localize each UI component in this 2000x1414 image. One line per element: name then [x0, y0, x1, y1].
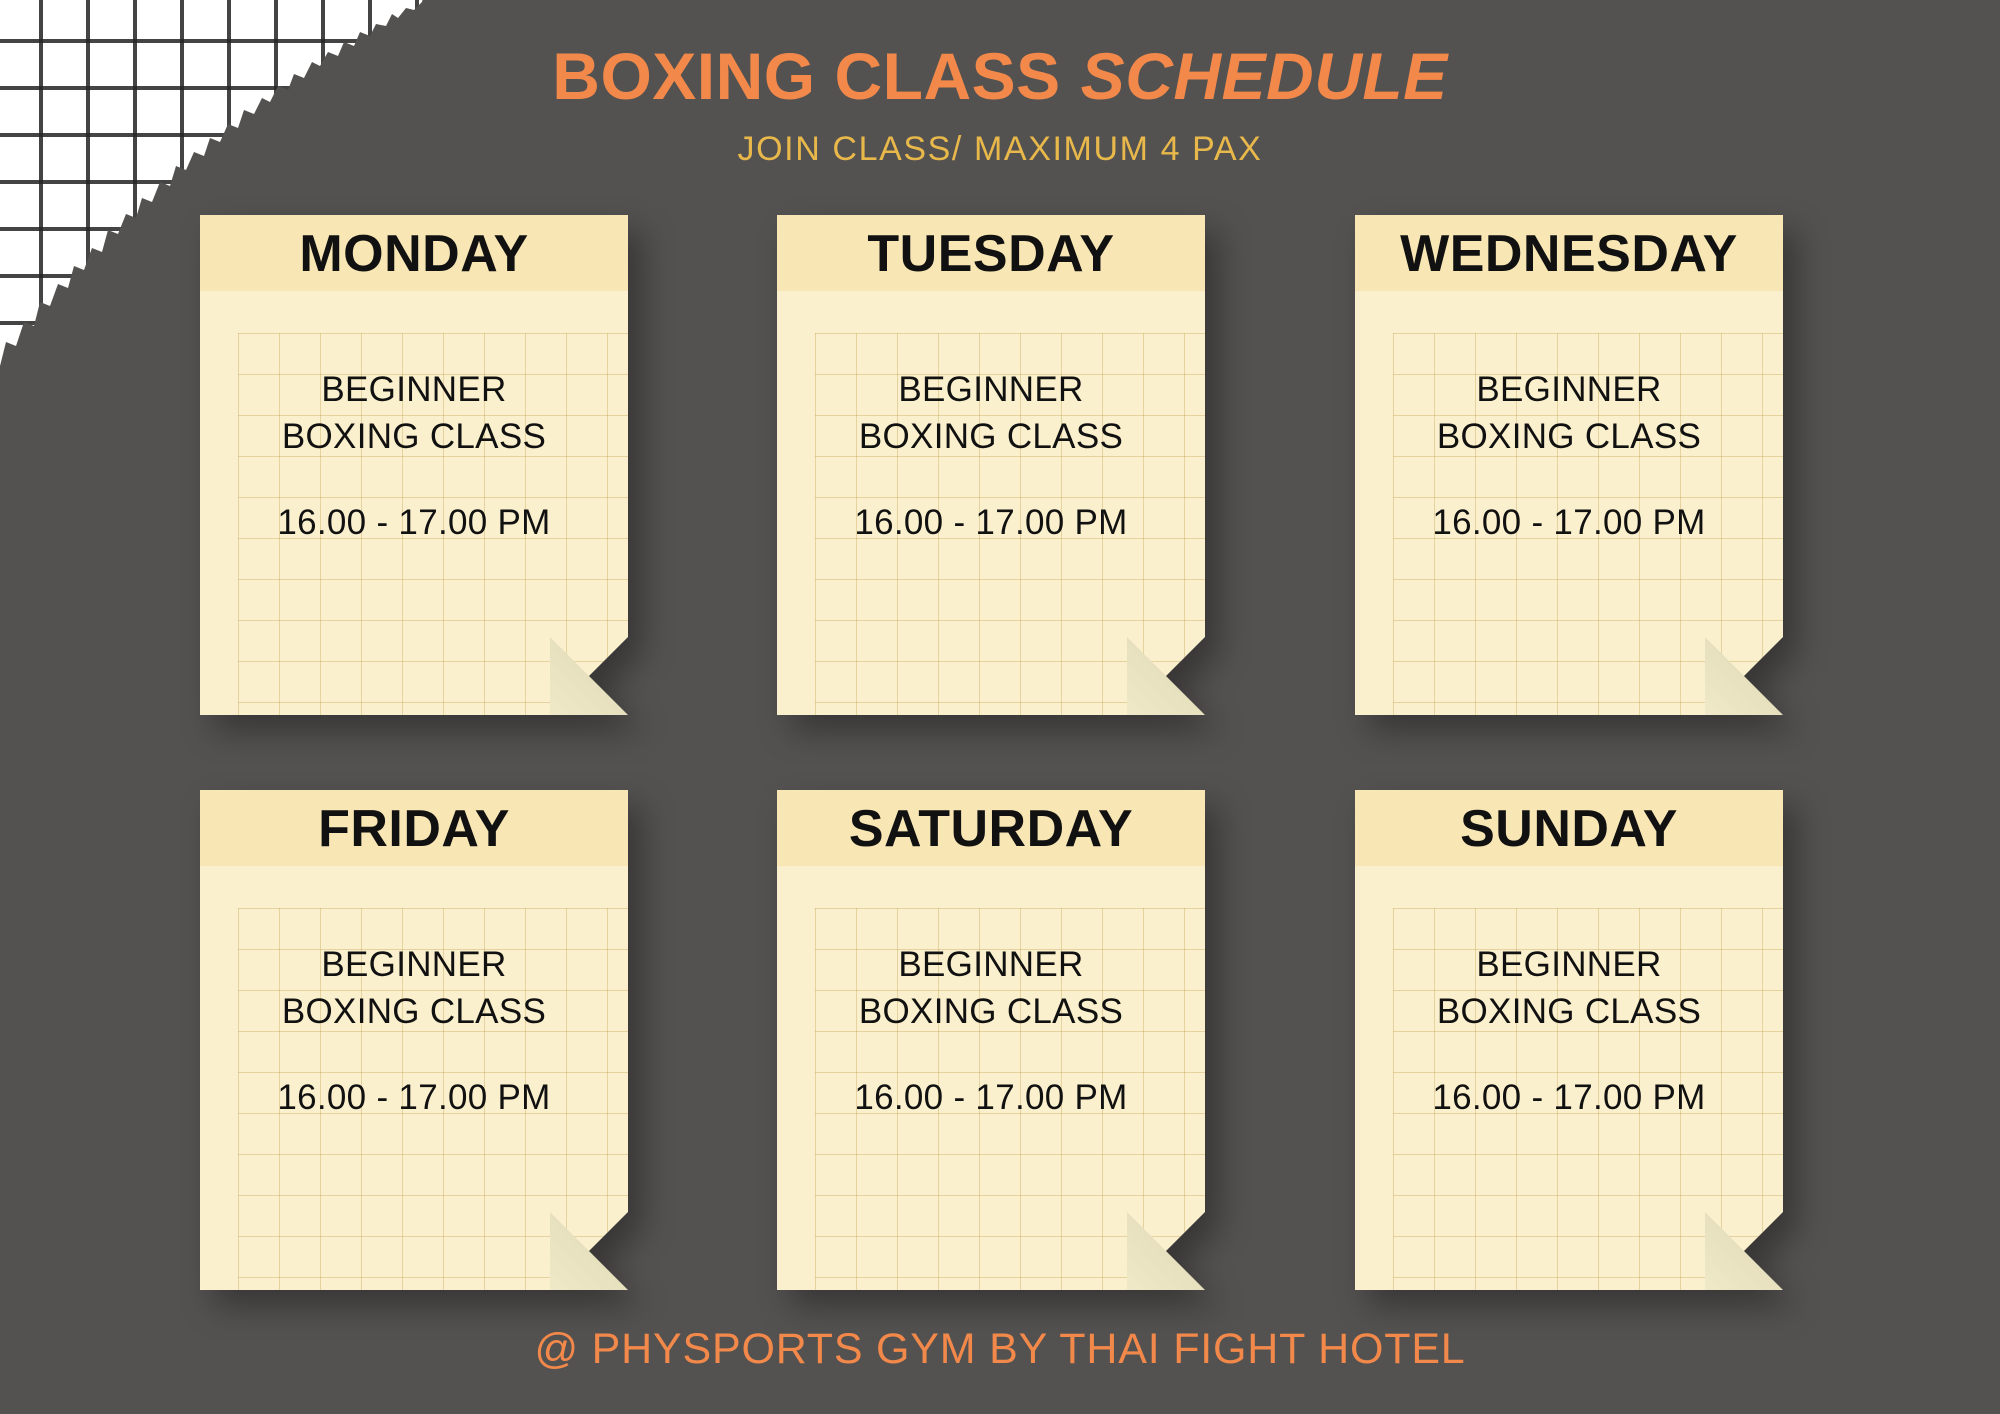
note-content: FRIDAY BEGINNER BOXING CLASS 16.00 - 17.… [200, 790, 628, 1290]
note-time-label: 16.00 - 17.00 PM [277, 1078, 550, 1118]
note-time-label: 16.00 - 17.00 PM [854, 1078, 1127, 1118]
note-day-label: SATURDAY [849, 800, 1133, 860]
title-schedule: SCHEDULE [1081, 39, 1448, 113]
note-day-label: WEDNESDAY [1400, 225, 1738, 285]
schedule-note-wednesday[interactable]: WEDNESDAY BEGINNER BOXING CLASS 16.00 - … [1355, 215, 1783, 715]
schedule-notes-area: MONDAY BEGINNER BOXING CLASS 16.00 - 17.… [0, 215, 2000, 1285]
poster-footer-venue: @ PHYSPORTS GYM BY THAI FIGHT HOTEL [0, 1325, 2000, 1374]
note-time-label: 16.00 - 17.00 PM [1432, 1078, 1705, 1118]
boxing-class-schedule-poster: BOXING CLASSSCHEDULE JOIN CLASS/ MAXIMUM… [0, 0, 2000, 1414]
poster-header: BOXING CLASSSCHEDULE JOIN CLASS/ MAXIMUM… [0, 40, 2000, 169]
note-class-label: BEGINNER BOXING CLASS [249, 367, 579, 461]
note-content: SATURDAY BEGINNER BOXING CLASS 16.00 - 1… [777, 790, 1205, 1290]
schedule-row-1: MONDAY BEGINNER BOXING CLASS 16.00 - 17.… [0, 215, 2000, 720]
note-day-label: MONDAY [299, 225, 528, 285]
note-day-label: SUNDAY [1460, 800, 1678, 860]
note-class-label: BEGINNER BOXING CLASS [1404, 942, 1734, 1036]
note-class-label: BEGINNER BOXING CLASS [1404, 367, 1734, 461]
poster-subtitle: JOIN CLASS/ MAXIMUM 4 PAX [0, 130, 2000, 169]
note-time-label: 16.00 - 17.00 PM [277, 503, 550, 543]
note-time-label: 16.00 - 17.00 PM [854, 503, 1127, 543]
schedule-row-2: FRIDAY BEGINNER BOXING CLASS 16.00 - 17.… [0, 790, 2000, 1295]
note-day-label: TUESDAY [867, 225, 1114, 285]
note-class-label: BEGINNER BOXING CLASS [826, 367, 1156, 461]
note-class-label: BEGINNER BOXING CLASS [826, 942, 1156, 1036]
page-title: BOXING CLASSSCHEDULE [0, 40, 2000, 114]
schedule-note-sunday[interactable]: SUNDAY BEGINNER BOXING CLASS 16.00 - 17.… [1355, 790, 1783, 1290]
note-content: SUNDAY BEGINNER BOXING CLASS 16.00 - 17.… [1355, 790, 1783, 1290]
schedule-note-friday[interactable]: FRIDAY BEGINNER BOXING CLASS 16.00 - 17.… [200, 790, 628, 1290]
note-time-label: 16.00 - 17.00 PM [1432, 503, 1705, 543]
title-boxing-class: BOXING CLASS [552, 39, 1060, 113]
note-content: TUESDAY BEGINNER BOXING CLASS 16.00 - 17… [777, 215, 1205, 715]
note-content: MONDAY BEGINNER BOXING CLASS 16.00 - 17.… [200, 215, 628, 715]
schedule-note-tuesday[interactable]: TUESDAY BEGINNER BOXING CLASS 16.00 - 17… [777, 215, 1205, 715]
schedule-note-saturday[interactable]: SATURDAY BEGINNER BOXING CLASS 16.00 - 1… [777, 790, 1205, 1290]
note-class-label: BEGINNER BOXING CLASS [249, 942, 579, 1036]
schedule-note-monday[interactable]: MONDAY BEGINNER BOXING CLASS 16.00 - 17.… [200, 215, 628, 715]
note-content: WEDNESDAY BEGINNER BOXING CLASS 16.00 - … [1355, 215, 1783, 715]
note-day-label: FRIDAY [318, 800, 510, 860]
